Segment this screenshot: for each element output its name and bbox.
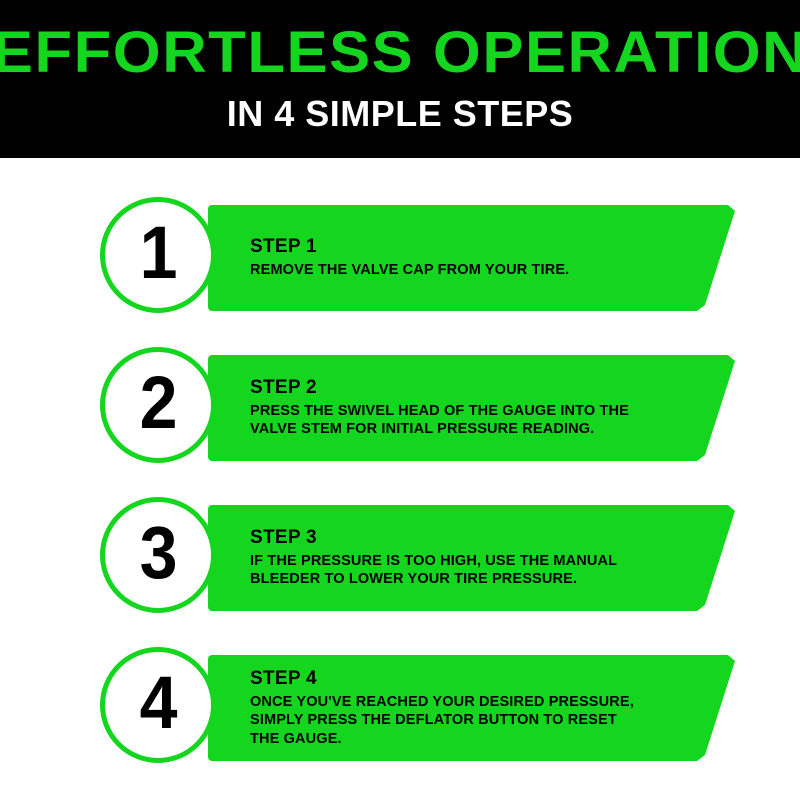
step-description-4: ONCE YOU'VE REACHED YOUR DESIRED PRESSUR…	[250, 693, 650, 749]
step-heading-3: STEP 3	[250, 527, 670, 549]
step-text-block-4: STEP 4 ONCE YOU'VE REACHED YOUR DESIRED …	[250, 655, 670, 761]
step-heading-2: STEP 2	[250, 377, 670, 399]
step-text-block-1: STEP 1 REMOVE THE VALVE CAP FROM YOUR TI…	[250, 205, 670, 311]
step-heading-1: STEP 1	[250, 236, 670, 258]
step-text-block-3: STEP 3 IF THE PRESSURE IS TOO HIGH, USE …	[250, 505, 670, 611]
step-heading-4: STEP 4	[250, 668, 670, 690]
step-number-badge-3: 3	[100, 497, 216, 613]
step-number-1: 1	[140, 216, 177, 290]
step-number-badge-4: 4	[100, 647, 216, 763]
step-number-badge-1: 1	[100, 197, 216, 313]
step-description-3: IF THE PRESSURE IS TOO HIGH, USE THE MAN…	[250, 552, 650, 589]
step-number-badge-2: 2	[100, 347, 216, 463]
page-subtitle: IN 4 SIMPLE STEPS	[227, 96, 574, 132]
step-number-2: 2	[140, 366, 177, 440]
step-description-1: REMOVE THE VALVE CAP FROM YOUR TIRE.	[250, 261, 650, 280]
page-title: EFFORTLESS OPERATION	[0, 24, 800, 82]
step-number-4: 4	[140, 666, 177, 740]
list-item: 4 STEP 4 ONCE YOU'VE REACHED YOUR DESIRE…	[0, 647, 800, 767]
list-item: 3 STEP 3 IF THE PRESSURE IS TOO HIGH, US…	[0, 497, 800, 617]
header-banner: EFFORTLESS OPERATION IN 4 SIMPLE STEPS	[0, 0, 800, 158]
step-text-block-2: STEP 2 PRESS THE SWIVEL HEAD OF THE GAUG…	[250, 355, 670, 461]
list-item: 2 STEP 2 PRESS THE SWIVEL HEAD OF THE GA…	[0, 347, 800, 467]
step-number-3: 3	[140, 516, 177, 590]
steps-list: 1 STEP 1 REMOVE THE VALVE CAP FROM YOUR …	[0, 158, 800, 800]
step-description-2: PRESS THE SWIVEL HEAD OF THE GAUGE INTO …	[250, 402, 650, 439]
list-item: 1 STEP 1 REMOVE THE VALVE CAP FROM YOUR …	[0, 197, 800, 317]
